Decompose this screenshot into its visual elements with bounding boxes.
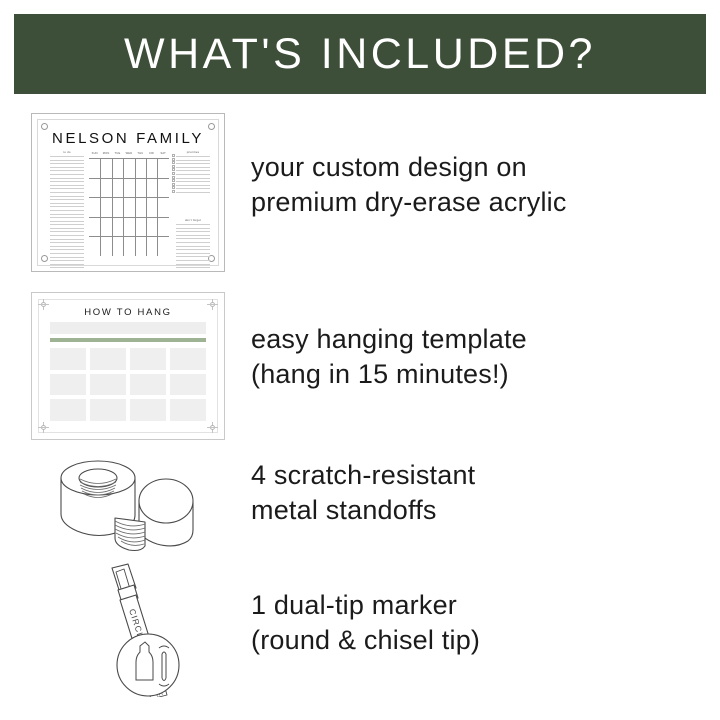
rule-line (176, 249, 210, 250)
checkbox-row (176, 181, 210, 182)
rule-line (176, 224, 210, 225)
template-cell (170, 374, 206, 396)
calendar-todo-header: to do (50, 150, 84, 154)
rule-line (176, 242, 210, 243)
template-cell (130, 399, 166, 421)
rule-line (176, 253, 210, 254)
rule-line (176, 235, 210, 236)
rule-line (50, 253, 84, 254)
template-cell (170, 399, 206, 421)
crosshair-marker-bottom-left-icon (38, 422, 49, 433)
crosshair-marker-bottom-right-icon (207, 422, 218, 433)
calendar-priorities-header: priorities (176, 150, 210, 154)
item-line: 1 dual-tip marker (251, 588, 480, 623)
rule-line (50, 235, 84, 236)
rule-line (50, 228, 84, 229)
item-line: your custom design on (251, 150, 567, 185)
standoff-hole-top-left-icon (41, 123, 48, 130)
standoff-hole-bottom-left-icon (41, 255, 48, 262)
day-label: FRI (146, 151, 157, 157)
rule-line (50, 267, 84, 268)
checkbox-row (176, 160, 210, 161)
rule-line (50, 160, 84, 161)
checkbox-row (176, 170, 210, 171)
item-line: metal standoffs (251, 493, 475, 528)
checkbox-row (176, 167, 210, 168)
day-label: THU (135, 151, 146, 157)
item-line: easy hanging template (251, 322, 527, 357)
checkbox-row (176, 156, 210, 157)
rule-line (50, 239, 84, 240)
rule-line (176, 267, 210, 268)
marker-illustration-icon: CIRCLE & SQUARE (72, 562, 192, 697)
rule-line (50, 181, 84, 182)
dry-erase-marker-art: CIRCLE & SQUARE (72, 562, 192, 697)
rule-line (50, 257, 84, 258)
item-line: (hang in 15 minutes!) (251, 357, 527, 392)
rule-line (50, 188, 84, 189)
calendar-family-name: NELSON FAMILY (32, 130, 224, 147)
rule-line (50, 210, 84, 211)
rule-line (50, 231, 84, 232)
standoff-hole-top-right-icon (208, 123, 215, 130)
template-cell (50, 399, 86, 421)
rule-line (50, 185, 84, 186)
rule-line (50, 206, 84, 207)
rule-line (50, 196, 84, 197)
rule-line (50, 242, 84, 243)
calendar-todo-column: to do (50, 150, 84, 271)
template-header-strip (50, 322, 206, 334)
checkbox-row (176, 174, 210, 175)
hanging-template-title: HOW TO HANG (32, 307, 224, 318)
item-line: premium dry-erase acrylic (251, 185, 567, 220)
rule-line (50, 221, 84, 222)
calendar-dont-forget-column: don't forget (176, 218, 210, 271)
checkbox-row (176, 163, 210, 164)
day-label: SUN (89, 151, 100, 157)
calendar-month-grid (89, 158, 169, 256)
page-title: WHAT'S INCLUDED? (124, 30, 596, 79)
rule-line (50, 178, 84, 179)
template-cell (130, 348, 166, 370)
rule-line (50, 192, 84, 193)
rule-line (50, 224, 84, 225)
rule-line (50, 203, 84, 204)
rule-line (50, 217, 84, 218)
item-text-dual-tip-marker: 1 dual-tip marker (round & chisel tip) (251, 588, 480, 658)
checkbox-row (176, 192, 210, 193)
day-label: MON (100, 151, 111, 157)
checkbox-row (176, 188, 210, 189)
item-text-metal-standoffs: 4 scratch-resistant metal standoffs (251, 458, 475, 528)
day-label: WED (123, 151, 134, 157)
rule-line (50, 174, 84, 175)
rule-line (50, 170, 84, 171)
rule-line (50, 249, 84, 250)
day-label: TUE (112, 151, 123, 157)
rule-line (176, 231, 210, 232)
rule-line (50, 246, 84, 247)
template-accent-bar (50, 338, 206, 342)
rule-line (176, 260, 210, 261)
rule-line (50, 163, 84, 164)
hanging-template-art: HOW TO HANG (31, 292, 225, 440)
standoff-illustration-icon (55, 452, 195, 552)
rule-line (176, 256, 210, 257)
standoff-hardware-art (55, 452, 195, 552)
rule-line (50, 167, 84, 168)
rule-line (50, 214, 84, 215)
calendar-dont-forget-header: don't forget (176, 218, 210, 222)
header-banner: WHAT'S INCLUDED? (14, 14, 706, 94)
rule-line (176, 246, 210, 247)
template-cell (130, 374, 166, 396)
rule-line (176, 228, 210, 229)
day-label: SAT (158, 151, 169, 157)
item-line: 4 scratch-resistant (251, 458, 475, 493)
template-cell (90, 374, 126, 396)
rule-line (50, 264, 84, 265)
rule-line (176, 238, 210, 239)
template-cell (90, 399, 126, 421)
item-text-hanging-template: easy hanging template (hang in 15 minute… (251, 322, 527, 392)
calendar-priorities-column: priorities (176, 150, 210, 196)
template-cell (90, 348, 126, 370)
acrylic-calendar-board: NELSON FAMILY to do (31, 113, 225, 272)
rule-line (50, 260, 84, 261)
checkbox-row (176, 185, 210, 186)
checkbox-row (176, 178, 210, 179)
calendar-day-header-row: SUN MON TUE WED THU FRI SAT (89, 151, 169, 157)
item-line: (round & chisel tip) (251, 623, 480, 658)
rule-line (50, 199, 84, 200)
template-grid (50, 348, 206, 421)
template-cell (50, 374, 86, 396)
rule-line (176, 264, 210, 265)
item-text-acrylic-calendar: your custom design on premium dry-erase … (251, 150, 567, 220)
template-cell (170, 348, 206, 370)
template-cell (50, 348, 86, 370)
rule-line (50, 156, 84, 157)
